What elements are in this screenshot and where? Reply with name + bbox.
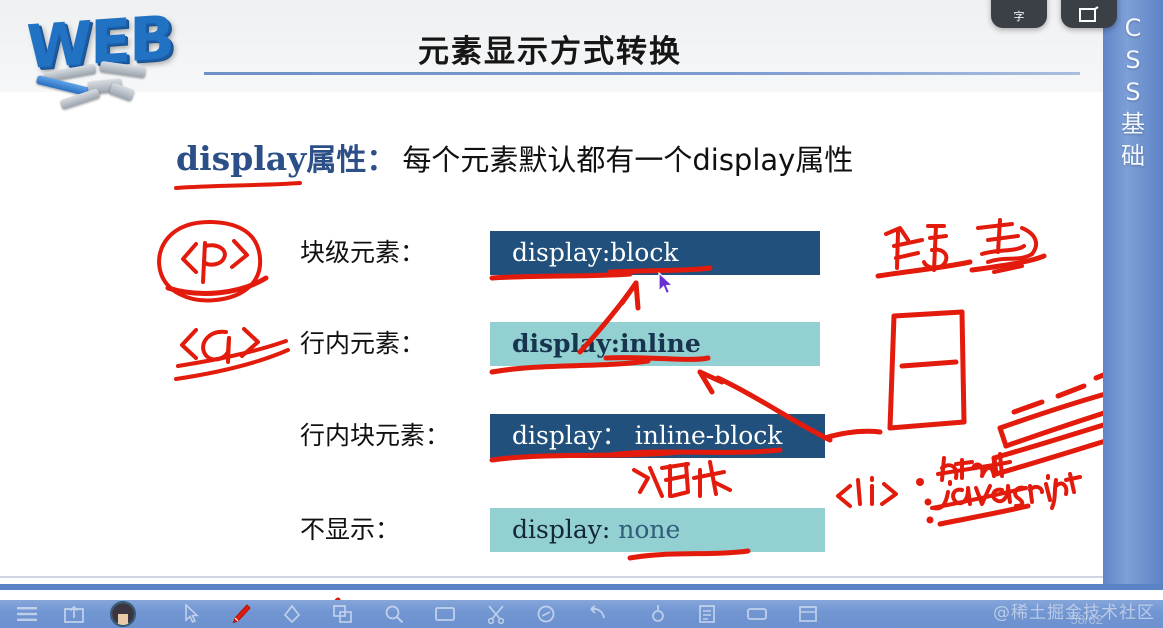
svg-text:字: 字 bbox=[1014, 9, 1025, 23]
subtitle-toggle-button[interactable]: 字 bbox=[991, 0, 1047, 28]
floating-controls: 字 bbox=[991, 0, 1117, 28]
row-label-none: 不显示： bbox=[300, 508, 485, 552]
mouse-cursor bbox=[657, 272, 675, 296]
pip-icon bbox=[1078, 6, 1100, 24]
chip-none-main: display: bbox=[512, 515, 618, 544]
chip-none-value: none bbox=[618, 515, 680, 544]
progress-strip[interactable] bbox=[0, 584, 1163, 590]
menu-icon[interactable] bbox=[16, 606, 38, 622]
chip-display-none: display: none bbox=[490, 508, 825, 552]
avatar-hair-right bbox=[128, 609, 134, 625]
share-icon[interactable] bbox=[64, 605, 84, 623]
watermark: @稀土掘金技术社区 bbox=[993, 598, 1155, 623]
side-tab-char-4: 础 bbox=[1121, 140, 1145, 172]
stamp-icon[interactable] bbox=[536, 604, 556, 624]
grid-icon[interactable] bbox=[798, 605, 818, 623]
notes-icon[interactable] bbox=[698, 604, 716, 624]
row-label-inline: 行内元素： bbox=[300, 322, 485, 366]
cursor-icon[interactable] bbox=[184, 604, 200, 624]
laser-icon[interactable] bbox=[648, 604, 668, 624]
pen-icon[interactable] bbox=[230, 603, 252, 625]
presentation-viewer: WEB 元素显示方式转换 display属性：每个元素默认都有一个display… bbox=[0, 0, 1163, 628]
slide-canvas: WEB 元素显示方式转换 display属性：每个元素默认都有一个display… bbox=[0, 0, 1103, 590]
row-label-inline-block: 行内块元素： bbox=[300, 414, 485, 458]
scissors-icon[interactable] bbox=[486, 604, 506, 624]
bottom-toolbar bbox=[0, 600, 1163, 628]
display-rows: 块级元素： display:block 行内元素： display:inline… bbox=[0, 0, 1103, 590]
avatar-hair-left bbox=[112, 609, 118, 625]
avatar[interactable] bbox=[110, 601, 136, 627]
css-section-tab: C S S 基 础 bbox=[1103, 0, 1163, 200]
side-tab-extension bbox=[1103, 200, 1163, 590]
side-tab-char-2: S bbox=[1125, 76, 1140, 108]
chip-display-block: display:block bbox=[490, 231, 820, 275]
undo-icon[interactable] bbox=[586, 605, 608, 623]
side-tab-char-3: 基 bbox=[1121, 108, 1145, 140]
whiteboard-icon[interactable] bbox=[746, 606, 768, 622]
picture-in-picture-button[interactable] bbox=[1061, 0, 1117, 28]
side-tab-char-0: C bbox=[1125, 12, 1142, 44]
chip-display-inline: display:inline bbox=[490, 322, 820, 366]
shapes-icon[interactable] bbox=[332, 604, 354, 624]
slide-bottom-divider bbox=[0, 576, 1103, 578]
rectangle-icon[interactable] bbox=[434, 605, 456, 623]
eraser-icon[interactable] bbox=[282, 604, 302, 624]
row-label-block: 块级元素： bbox=[300, 231, 485, 275]
chip-display-inline-block: display： inline-block bbox=[490, 414, 825, 458]
side-tab-char-1: S bbox=[1125, 44, 1140, 76]
subtitle-icon: 字 bbox=[1008, 8, 1030, 24]
magnifier-icon[interactable] bbox=[384, 604, 404, 624]
